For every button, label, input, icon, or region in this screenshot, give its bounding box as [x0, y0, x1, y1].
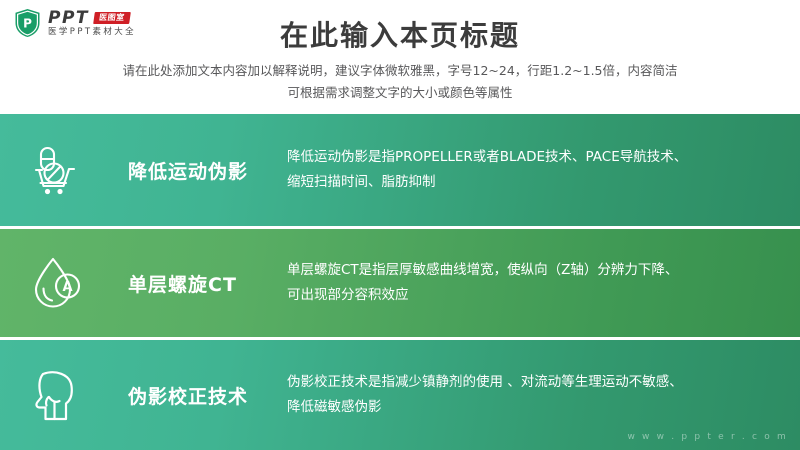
band-1-label: 降低运动伪影	[112, 157, 287, 184]
subtitle-line-1: 请在此处添加文本内容加以解释说明，建议字体微软雅黑，字号12~24，行距1.2~…	[0, 60, 800, 82]
blood-drop-type-a-icon: A	[0, 255, 112, 311]
band-3-label: 伪影校正技术	[112, 382, 287, 409]
band-2-label: 单层螺旋CT	[112, 270, 287, 297]
band-3-body: 伪影校正技术是指减少镇静剂的使用 、对流动等生理运动不敏感、 降低磁敏感伪影	[287, 370, 800, 420]
band-1-body-line-1: 降低运动伪影是指PROPELLER或者BLADE技术、PACE导航技术、	[287, 145, 782, 170]
content-band-2[interactable]: A 单层螺旋CT 单层螺旋CT是指层厚敏感曲线增宽，使纵向（Z轴）分辨力下降、 …	[0, 229, 800, 337]
band-3-body-line-2: 降低磁敏感伪影	[287, 395, 782, 420]
head-throat-anatomy-icon	[0, 367, 112, 423]
page-title: 在此输入本页标题	[0, 14, 800, 54]
band-3-body-line-1: 伪影校正技术是指减少镇静剂的使用 、对流动等生理运动不敏感、	[287, 370, 782, 395]
band-2-body-line-2: 可出现部分容积效应	[287, 283, 782, 308]
band-2-body-line-1: 单层螺旋CT是指层厚敏感曲线增宽，使纵向（Z轴）分辨力下降、	[287, 258, 782, 283]
band-1-body-line-2: 缩短扫描时间、脂肪抑制	[287, 170, 782, 195]
site-watermark: w w w . p p t e r . c o m	[627, 432, 788, 442]
page-subtitle: 请在此处添加文本内容加以解释说明，建议字体微软雅黑，字号12~24，行距1.2~…	[0, 60, 800, 104]
slide-root: P PPT 医图室 医学PPT素材大全 在此输入本页标题 请在此处添加文本内容加…	[0, 0, 800, 450]
svg-text:A: A	[62, 280, 72, 295]
band-1-body: 降低运动伪影是指PROPELLER或者BLADE技术、PACE导航技术、 缩短扫…	[287, 145, 800, 195]
subtitle-line-2: 可根据需求调整文字的大小或颜色等属性	[0, 82, 800, 104]
pill-cart-icon	[0, 142, 112, 198]
content-band-1[interactable]: 降低运动伪影 降低运动伪影是指PROPELLER或者BLADE技术、PACE导航…	[0, 114, 800, 226]
band-2-body: 单层螺旋CT是指层厚敏感曲线增宽，使纵向（Z轴）分辨力下降、 可出现部分容积效应	[287, 258, 800, 308]
